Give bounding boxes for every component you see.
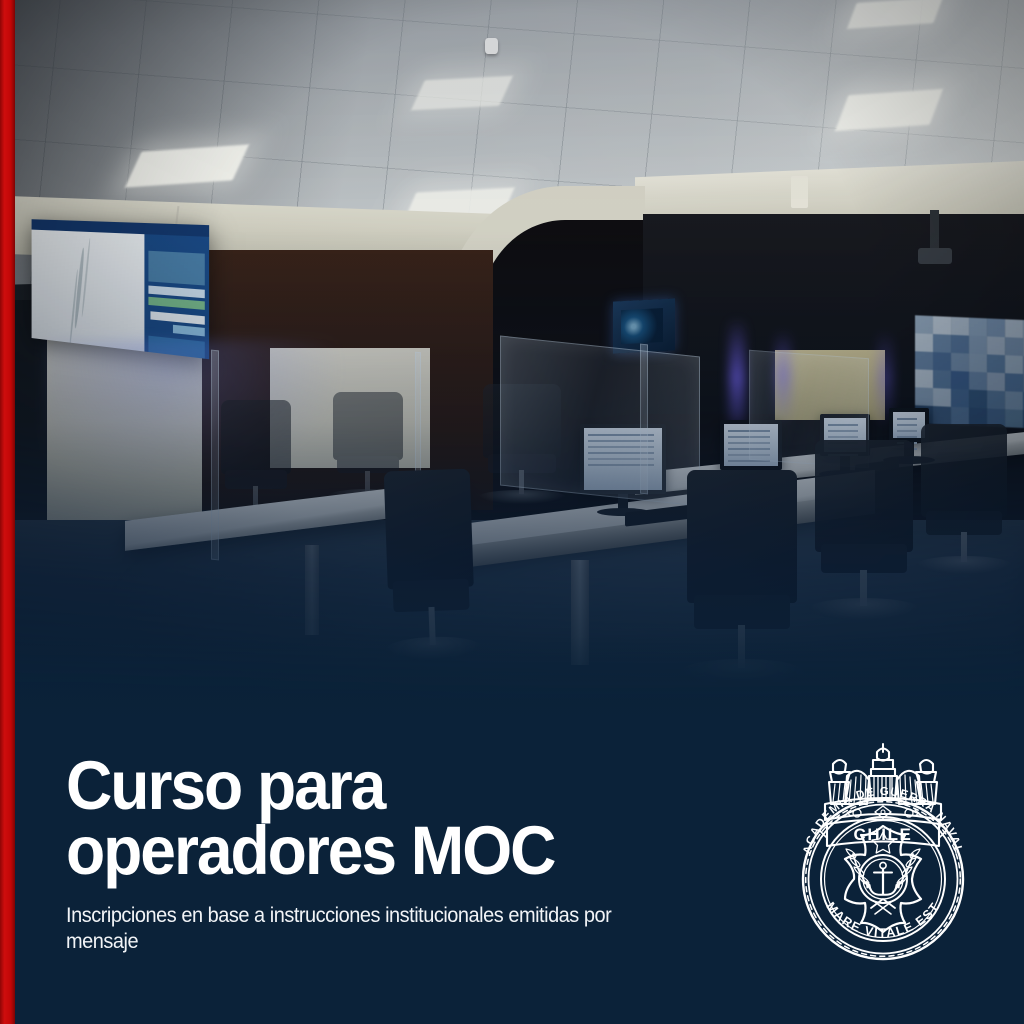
pixel-block <box>933 316 951 335</box>
pixel-block <box>951 389 969 408</box>
pixel-block <box>951 371 969 390</box>
pixel-block <box>933 388 951 407</box>
pixelated-screen <box>915 315 1024 429</box>
pixel-block <box>951 407 969 426</box>
left-accent-bar <box>0 0 15 1024</box>
pixel-block <box>1005 337 1023 356</box>
pixel-block <box>933 334 951 353</box>
headline-line-1: Curso para <box>66 754 661 819</box>
display-row <box>148 286 204 299</box>
glass-divider <box>211 350 219 561</box>
pixel-block <box>915 333 933 352</box>
pixel-block <box>969 354 987 373</box>
display-row <box>150 311 204 324</box>
display-glow <box>45 340 345 490</box>
smoke-detector-icon <box>485 38 498 54</box>
pixel-block <box>987 372 1005 391</box>
projector-icon <box>930 210 939 250</box>
pixel-block <box>933 370 951 389</box>
ceiling-light-panel <box>411 76 513 110</box>
pixel-block <box>987 336 1005 355</box>
office-chair <box>815 440 913 620</box>
display-row <box>173 325 205 337</box>
emblem-bottom-arc-text: MARE VITALE EST <box>823 899 942 940</box>
pixel-block <box>1005 355 1023 374</box>
pixel-block <box>933 352 951 371</box>
pixel-block <box>951 353 969 372</box>
poster-root: Curso para operadores MOC Inscripciones … <box>0 0 1024 1024</box>
pixel-block <box>969 336 987 355</box>
pixel-block <box>915 315 933 334</box>
glass-divider <box>500 335 700 506</box>
footer-band: Curso para operadores MOC Inscripciones … <box>15 726 1024 1024</box>
office-chair <box>384 469 477 662</box>
pixel-block <box>951 335 969 354</box>
pixel-block <box>915 387 933 406</box>
subtitle-text: Inscripciones en base a instrucciones in… <box>66 903 674 956</box>
wall-display-map <box>32 219 210 359</box>
academia-guerra-naval-emblem: CHILE ACADEMIA DE GUERRA NAVAL MARE VITA… <box>783 736 983 984</box>
ceiling-light-panel <box>835 89 943 131</box>
pixel-block <box>1005 319 1023 338</box>
pixel-block <box>1005 373 1023 392</box>
wall-control-box <box>791 176 808 208</box>
map-coastline <box>74 247 86 329</box>
office-chair <box>921 424 1007 574</box>
pixel-block <box>915 351 933 370</box>
pixel-block <box>915 369 933 388</box>
pixel-block <box>969 318 987 337</box>
pixel-block <box>933 406 951 425</box>
pixel-block <box>987 354 1005 373</box>
pixel-block <box>1005 391 1023 410</box>
pixel-block <box>987 318 1005 337</box>
pixel-block <box>969 372 987 391</box>
footer-copy: Curso para operadores MOC Inscripciones … <box>66 754 706 956</box>
pixel-block <box>969 390 987 409</box>
display-thumbnail-image <box>148 251 204 286</box>
pixel-block <box>1005 409 1023 428</box>
pixel-block <box>987 390 1005 409</box>
emblem-banner-text: CHILE <box>854 825 913 844</box>
headline-line-2: operadores MOC <box>66 819 661 884</box>
glass-divider <box>640 344 648 495</box>
footer-fade <box>15 636 1024 728</box>
display-row <box>148 297 204 310</box>
desk-leg <box>305 545 319 635</box>
pixel-block <box>951 317 969 336</box>
